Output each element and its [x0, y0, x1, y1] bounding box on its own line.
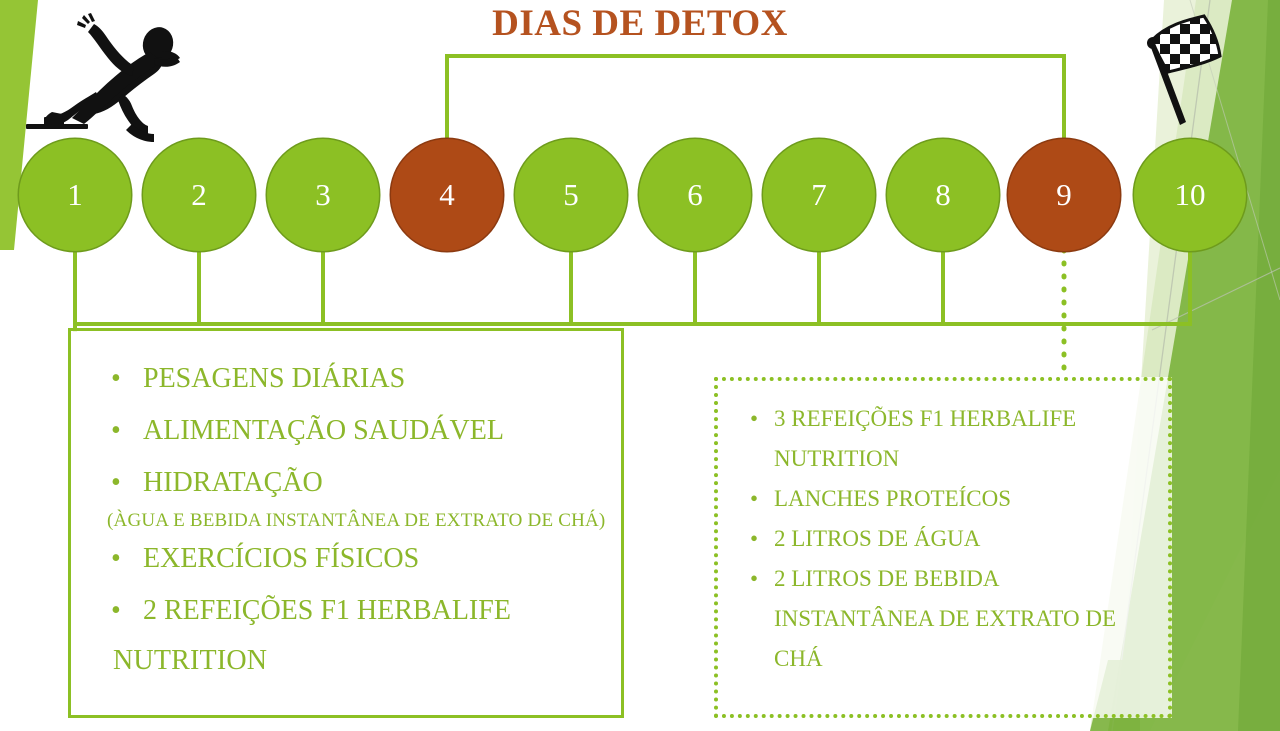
day-label: 2	[191, 177, 207, 213]
list-item: 2 LITROS DE ÁGUA	[744, 519, 1156, 559]
list-item-continuation: NUTRITION	[105, 637, 607, 685]
infographic-slide: DIAS DE DETOX	[0, 0, 1280, 731]
detox-day-panel: 3 REFEIÇÕES F1 HERBALIFE NUTRITION LANCH…	[714, 377, 1172, 718]
day-label: 7	[811, 177, 827, 213]
day-circle-5[interactable]: 5	[515, 139, 627, 251]
list-item-continuation: INSTANTÂNEA DE EXTRATO DE	[744, 599, 1156, 639]
day-label: 3	[315, 177, 331, 213]
day-circle-2[interactable]: 2	[143, 139, 255, 251]
day-circle-7[interactable]: 7	[763, 139, 875, 251]
list-item: 2 LITROS DE BEBIDA	[744, 559, 1156, 599]
list-item-note: (ÀGUA E BEBIDA INSTANTÂNEA DE EXTRATO DE…	[105, 509, 607, 533]
day-label: 1	[67, 177, 83, 213]
daily-routine-panel: PESAGENS DIÁRIAS ALIMENTAÇÃO SAUDÁVEL HI…	[68, 328, 624, 718]
day-circle-8[interactable]: 8	[887, 139, 999, 251]
day-circle-9[interactable]: 9	[1008, 139, 1120, 251]
list-item-continuation: NUTRITION	[744, 439, 1156, 479]
day-label: 6	[687, 177, 703, 213]
list-item: LANCHES PROTEÍCOS	[744, 479, 1156, 519]
day-label: 10	[1175, 177, 1206, 213]
list-item: PESAGENS DIÁRIAS	[105, 353, 607, 405]
day-label: 8	[935, 177, 951, 213]
day-label: 5	[563, 177, 579, 213]
day-label: 4	[439, 177, 455, 213]
day-circle-3[interactable]: 3	[267, 139, 379, 251]
list-item: 3 REFEIÇÕES F1 HERBALIFE	[744, 399, 1156, 439]
detox-day-list: 3 REFEIÇÕES F1 HERBALIFE NUTRITION LANCH…	[718, 381, 1168, 679]
list-item-continuation: CHÁ	[744, 639, 1156, 679]
day-circle-6[interactable]: 6	[639, 139, 751, 251]
list-item: 2 REFEIÇÕES F1 HERBALIFE	[105, 585, 607, 637]
list-item: EXERCÍCIOS FÍSICOS	[105, 533, 607, 585]
day-circle-4[interactable]: 4	[391, 139, 503, 251]
day-circle-10[interactable]: 10	[1134, 139, 1246, 251]
list-item: HIDRATAÇÃO	[105, 457, 607, 509]
daily-routine-list: PESAGENS DIÁRIAS ALIMENTAÇÃO SAUDÁVEL HI…	[71, 331, 621, 685]
day-label: 9	[1056, 177, 1072, 213]
list-item: ALIMENTAÇÃO SAUDÁVEL	[105, 405, 607, 457]
day-circle-1[interactable]: 1	[19, 139, 131, 251]
